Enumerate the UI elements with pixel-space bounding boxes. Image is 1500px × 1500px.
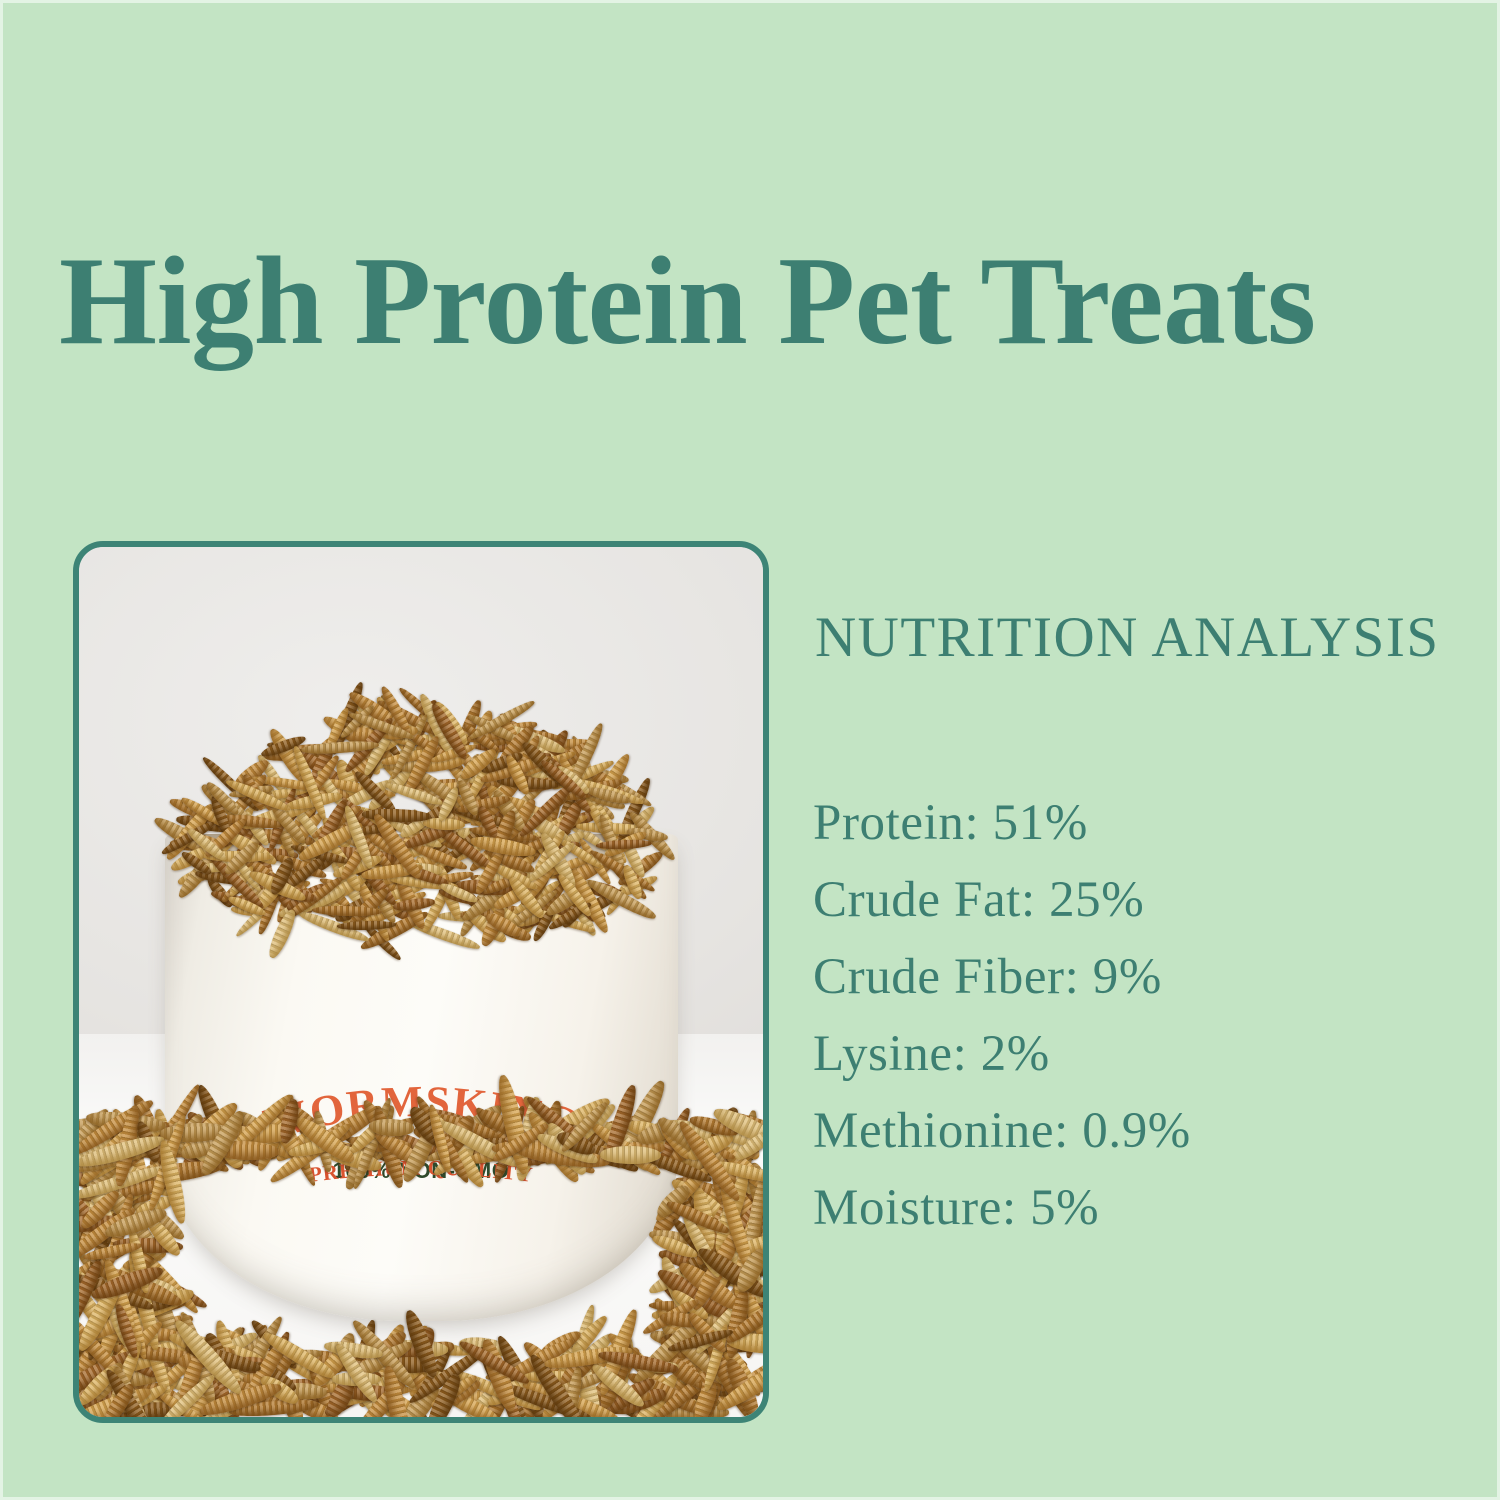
product-photo: WORMSKING 100% NON-GMO PREMIUM QUALITY: [79, 547, 763, 1417]
nutrition-item: Moisture: 5%: [813, 1170, 1453, 1247]
nutrition-heading: NUTRITION ANALYSIS: [815, 603, 1453, 673]
product-photo-frame: WORMSKING 100% NON-GMO PREMIUM QUALITY: [73, 541, 769, 1423]
nutrition-item: Crude Fat: 25%: [813, 862, 1453, 939]
nutrition-item: Methionine: 0.9%: [813, 1093, 1453, 1170]
page-title: High Protein Pet Treats: [59, 227, 1459, 377]
nutrition-list: Protein: 51%Crude Fat: 25%Crude Fiber: 9…: [813, 785, 1453, 1247]
product-infographic: High Protein Pet Treats WORMSKING: [0, 0, 1500, 1500]
nutrition-item: Protein: 51%: [813, 785, 1453, 862]
nutrition-analysis-panel: NUTRITION ANALYSIS Protein: 51%Crude Fat…: [813, 603, 1453, 1247]
nutrition-item: Crude Fiber: 9%: [813, 939, 1453, 1016]
mealworm-scatter: [79, 547, 763, 1417]
mealworm: [600, 1146, 661, 1165]
nutrition-item: Lysine: 2%: [813, 1016, 1453, 1093]
